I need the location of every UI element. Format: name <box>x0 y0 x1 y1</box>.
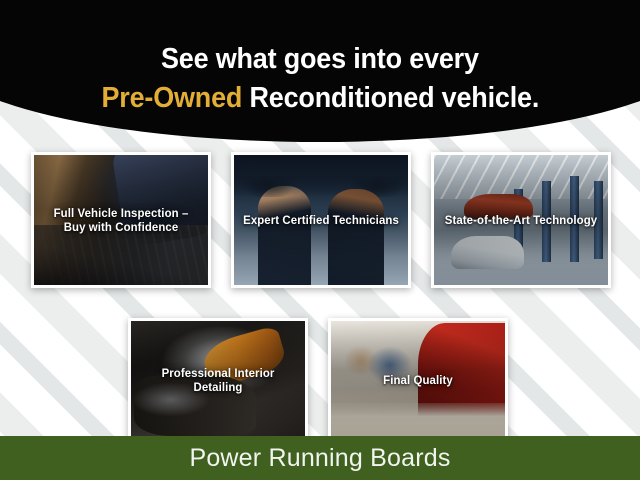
card-caption-line-1: State-of-the-Art Technology <box>440 213 602 227</box>
promo-banner: See what goes into every Pre-Owned Recon… <box>0 0 640 480</box>
card-caption-line-2: Detailing <box>137 380 299 394</box>
headline-line-2-rest: Reconditioned vehicle. <box>242 82 539 114</box>
card-caption-inspection: Full Vehicle Inspection – Buy with Confi… <box>36 206 207 234</box>
headline-line-2: Pre-Owned Reconditioned vehicle. <box>101 79 539 118</box>
card-caption-line-1: Expert Certified Technicians <box>240 213 402 227</box>
card-caption-line-1: Full Vehicle Inspection – <box>40 206 202 220</box>
card-caption-line-1: Final Quality <box>337 372 499 386</box>
header-panel: See what goes into every Pre-Owned Recon… <box>0 0 640 142</box>
card-caption-line-1: Professional Interior <box>137 365 299 379</box>
feature-card-expert-certified-technicians[interactable]: Expert Certified Technicians <box>231 152 411 288</box>
headline-accent-text: Pre-Owned <box>101 82 242 114</box>
feature-card-state-of-the-art-technology[interactable]: State-of-the-Art Technology <box>431 152 611 288</box>
footer-title: Power Running Boards <box>189 444 450 473</box>
feature-card-final-quality[interactable]: Final Quality <box>328 318 508 441</box>
card-caption-detailing: Professional Interior Detailing <box>133 365 304 393</box>
headline-line-1: See what goes into every <box>161 40 479 79</box>
footer-bar: Power Running Boards <box>0 436 640 480</box>
card-caption-final-quality: Final Quality <box>333 372 504 386</box>
feature-card-professional-interior-detailing[interactable]: Professional Interior Detailing <box>128 318 308 441</box>
feature-card-full-vehicle-inspection[interactable]: Full Vehicle Inspection – Buy with Confi… <box>31 152 211 288</box>
card-caption-line-2: Buy with Confidence <box>40 220 202 234</box>
card-caption-technicians: Expert Certified Technicians <box>236 213 407 227</box>
card-caption-technology: State-of-the-Art Technology <box>436 213 607 227</box>
